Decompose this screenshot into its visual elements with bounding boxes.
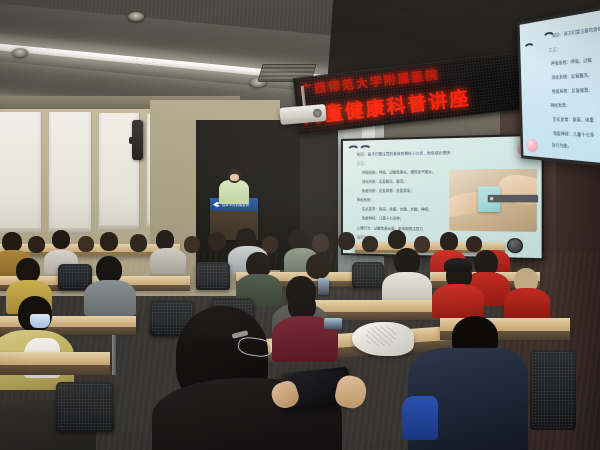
audience-head <box>414 236 430 253</box>
face-mask <box>30 314 50 328</box>
slide-line: 消化系统：反复腹泻、腹泻； <box>362 181 407 185</box>
audience-head <box>466 236 482 252</box>
smartphone-raised[interactable] <box>318 278 329 295</box>
secondary-slide-heading: 知识：孩子们是注意的身体 <box>552 27 600 39</box>
secondary-slide-pink-circle-icon <box>526 138 538 152</box>
blue-cloth-item <box>402 396 438 440</box>
chair-mesh <box>58 384 112 430</box>
secondary-slide-line: 神经发育： <box>550 103 570 108</box>
window-blind <box>48 112 92 234</box>
plastic-bag-folds <box>366 326 396 346</box>
secondary-slide-line: 免疫神经：儿童十七多 <box>553 131 594 137</box>
secondary-slide-line: 免疫系统：反复感冒、 <box>552 88 593 94</box>
audience-head <box>78 236 94 252</box>
audience-head <box>312 234 329 252</box>
audience-head <box>28 236 45 253</box>
speaker-torso <box>219 180 249 204</box>
audience-head <box>52 230 70 249</box>
ceiling-downlight-icon <box>128 12 144 21</box>
audience-torso <box>84 280 136 316</box>
chair-mesh <box>354 264 382 286</box>
audience-head <box>388 230 406 249</box>
speaker-face <box>230 174 239 181</box>
slide-line: 免疫神经：儿童十七多种； <box>362 217 403 221</box>
slide-line: 免疫系统：反复感冒、反复感染； <box>362 190 414 194</box>
slide-line: 呼吸系统：呼吸、过敏性鼻炎、慢性支气管炎； <box>362 171 436 175</box>
secondary-display-screen: 知识：孩子们是注意的身体 三三： 呼吸系统：呼吸、过敏 消化系统：反复腹泻、 免… <box>517 4 600 169</box>
slide-line: 心理行为：过敏性鼻炎盐，影响到的注意力 <box>357 227 423 231</box>
blind-bottom-bar <box>99 225 139 231</box>
chair-mesh <box>532 352 574 428</box>
audience-torso-red-volunteer <box>504 288 550 320</box>
slide-heading: 知识：孩子们是注意的身体的脊柱十六岁，有些成长很快 <box>357 152 450 157</box>
audience-head <box>362 236 378 252</box>
audience-torso <box>150 248 186 274</box>
secondary-slide-surface: 知识：孩子们是注意的身体 三三： 呼吸系统：呼吸、过敏 消化系统：反复腹泻、 免… <box>520 8 600 165</box>
bird-icon <box>349 144 358 151</box>
audience-head <box>338 232 355 250</box>
slide-line: 三三： <box>357 163 367 167</box>
window-blind <box>0 112 42 234</box>
secondary-slide-line: 三三： <box>549 47 561 53</box>
secondary-slide-line: 及行为能。 <box>552 143 572 149</box>
secondary-slide-line: 呼吸系统：呼吸、过敏 <box>551 58 592 66</box>
slide-line: 神经系统： <box>357 199 374 202</box>
secondary-slide-line: 消化系统：反复腹泻、 <box>551 73 592 80</box>
audience-head <box>2 232 22 252</box>
audience-chair[interactable] <box>196 262 230 290</box>
audience-head <box>208 232 226 251</box>
audience-head <box>100 232 118 251</box>
hand-shape <box>495 171 537 209</box>
slide-badge-bar <box>488 195 538 203</box>
chair-mesh <box>60 266 90 288</box>
wall-speaker-icon <box>132 120 143 160</box>
audience-head <box>440 232 458 251</box>
audience-head <box>130 234 147 252</box>
desk-front-d <box>0 365 110 375</box>
audience-chair[interactable] <box>352 262 384 288</box>
slide-line: 生长发育：身高、体重、大脑、大脑、神经； <box>362 208 432 212</box>
bird-icon <box>525 41 533 49</box>
lecture-hall-photo: 广西师范大学附属医院 儿童健康科普讲座 知识：孩子们是注意的身体的脊柱十六岁，有… <box>0 0 600 450</box>
audience-chair[interactable] <box>530 350 576 430</box>
audience-head <box>184 236 200 253</box>
audience-torso-red-volunteer <box>432 284 484 318</box>
audience-chair[interactable] <box>56 382 114 432</box>
black-cap <box>444 258 472 272</box>
chair-mesh <box>198 264 228 288</box>
bird-icon <box>361 143 370 150</box>
desk-leg <box>112 335 116 375</box>
slide-heading-row <box>349 143 370 151</box>
ceiling-downlight-icon <box>12 48 28 57</box>
audience-head <box>288 230 306 249</box>
secondary-slide-line: 生长发育：身高、体重 <box>553 118 594 123</box>
audience-head <box>394 248 420 275</box>
audience-head <box>306 254 330 279</box>
smartphone-on-desk[interactable] <box>324 318 342 329</box>
audience-head <box>156 230 174 250</box>
